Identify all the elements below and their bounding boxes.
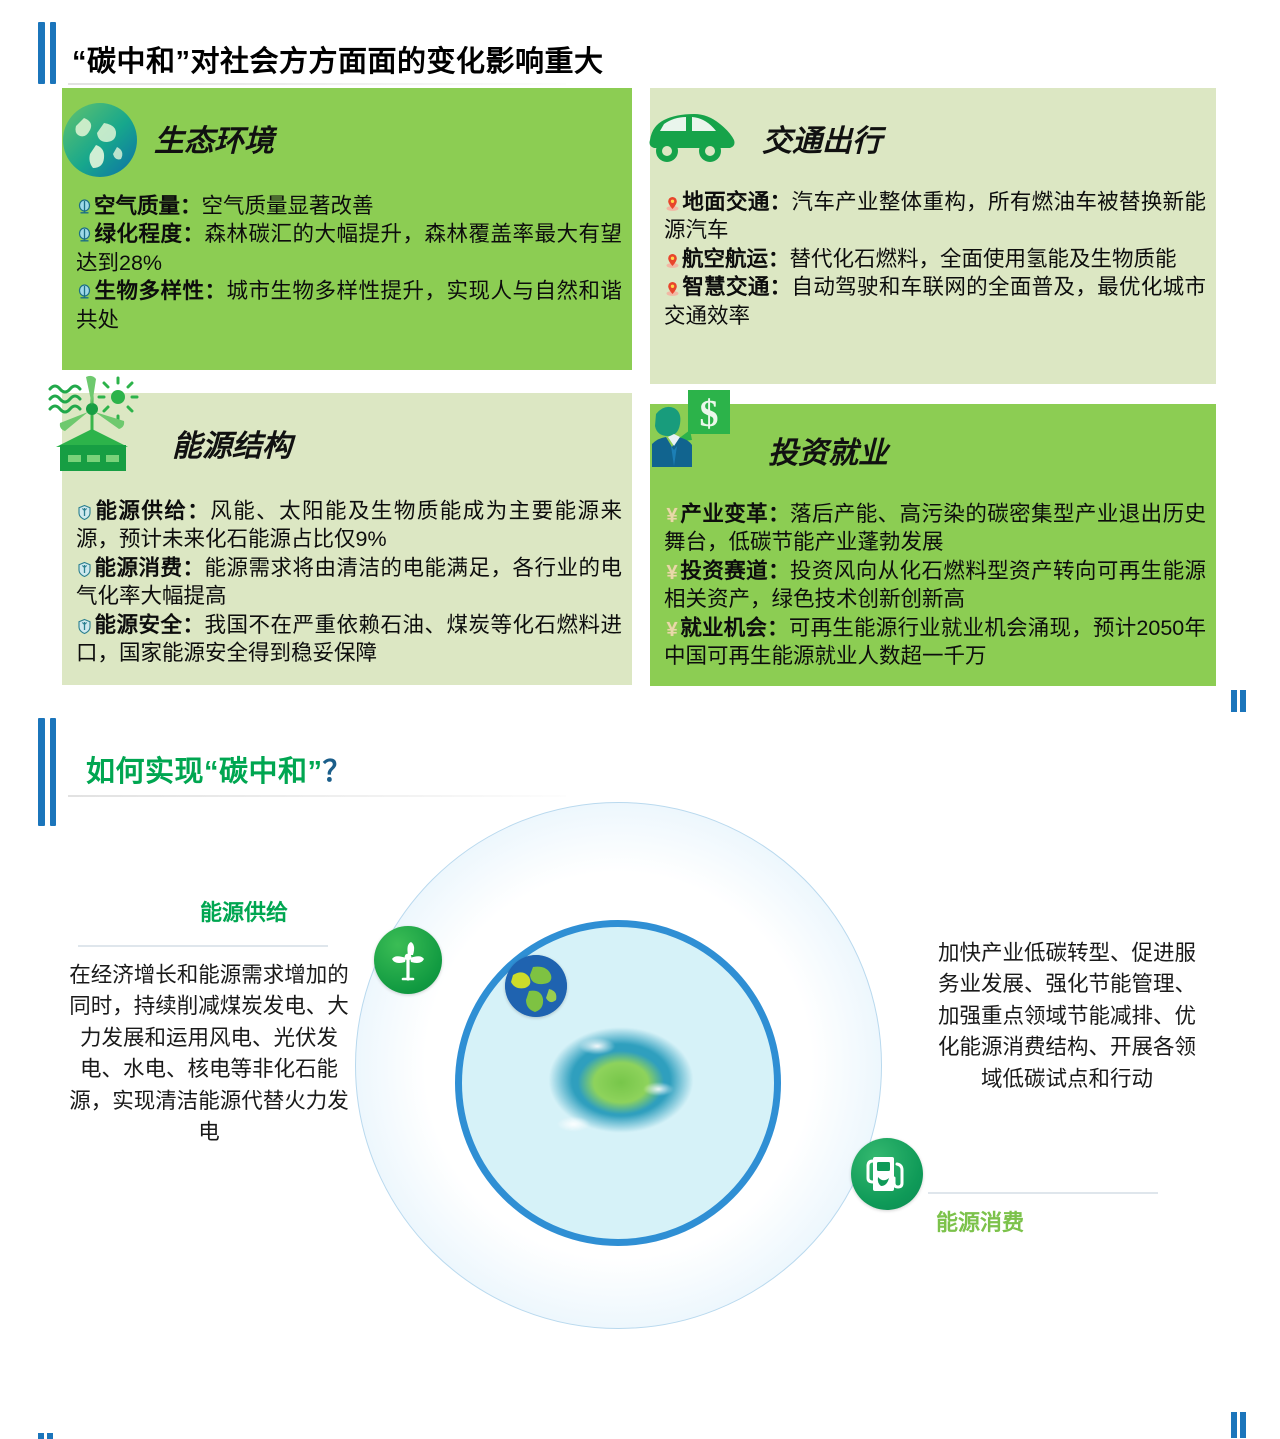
card-investment-jobs: $ 投资就业 ¥产业变革：落后产能、高污染的碳密集型产业退出历史舞台，低碳节能产… <box>650 404 1216 686</box>
label-energy-supply: 能源供给 <box>200 895 288 927</box>
carbon-neutral-diagram: 能源供给 在经济增长和能源需求增加的同时，持续削减煤炭发电、大力发展和运用风电、… <box>0 800 1280 1360</box>
heading-divider <box>68 83 566 85</box>
list-item: ¥投资赛道：投资风向从化石燃料型资产转向可再生能源相关资产，绿色技术创新创新高 <box>664 557 1206 614</box>
left-label-divider <box>78 945 328 947</box>
edge-marker-right-bottom <box>1231 1412 1246 1438</box>
item-label: 产业变革： <box>680 502 790 526</box>
list-item: 能源安全：我国不在严重依赖石油、煤炭等化石燃料进口，国家能源安全得到稳妥保障 <box>76 611 622 668</box>
shield-icon <box>76 561 93 578</box>
section2-title-text: 如何实现“碳中和” <box>86 756 323 788</box>
map-pin-icon <box>664 280 681 297</box>
edge-marker-left-bottom <box>38 1433 53 1439</box>
tree-icon <box>76 227 93 244</box>
list-item: 地面交通：汽车产业整体重构，所有燃油车被替换新能源汽车 <box>664 188 1206 245</box>
fuel-station-icon <box>851 1138 923 1210</box>
card-title: 投资就业 <box>768 428 888 472</box>
label-energy-consumption: 能源消费 <box>936 1205 1024 1237</box>
item-label: 地面交通： <box>682 190 792 214</box>
marker-bar <box>38 1433 44 1439</box>
wind-turbine-leaf-icon <box>374 926 442 994</box>
card-transport: 交通出行 地面交通：汽车产业整体重构，所有燃油车被替换新能源汽车 航空航运：替代… <box>650 88 1216 384</box>
tree-icon <box>76 284 93 301</box>
list-item: 航空航运：替代化石燃料，全面使用氢能及生物质能 <box>664 245 1206 273</box>
yen-icon: ¥ <box>664 620 680 640</box>
page-title: “碳中和”对社会方方面面的变化影响重大 <box>72 38 604 80</box>
section2-title-question: ？ <box>323 756 353 788</box>
item-text: 空气质量显著改善 <box>202 194 374 218</box>
map-pin-icon <box>664 195 681 212</box>
list-item: ¥产业变革：落后产能、高污染的碳密集型产业退出历史舞台，低碳节能产业蓬勃发展 <box>664 500 1206 557</box>
globe-icon <box>54 93 146 185</box>
yen-icon: ¥ <box>664 563 680 583</box>
wind-turbine-icon <box>34 375 154 483</box>
china-map-icon <box>536 1015 706 1145</box>
item-text: 替代化石燃料，全面使用氢能及生物质能 <box>790 247 1177 271</box>
card-body: 地面交通：汽车产业整体重构，所有燃油车被替换新能源汽车 航空航运：替代化石燃料，… <box>664 188 1206 330</box>
marker-bar <box>47 1433 53 1439</box>
heading-accent-bars <box>38 22 56 84</box>
card-title: 生态环境 <box>154 116 274 160</box>
list-item: 能源供给：风能、太阳能及生物质能成为主要能源来源，预计未来化石能源占比仅9% <box>76 497 622 554</box>
item-label: 就业机会： <box>680 616 789 640</box>
section1-heading: “碳中和”对社会方方面面的变化影响重大 <box>38 22 604 84</box>
card-title: 交通出行 <box>762 116 882 160</box>
shield-icon <box>76 618 93 635</box>
svg-text:$: $ <box>700 393 719 435</box>
car-icon <box>640 96 740 170</box>
marker-bar <box>1240 1412 1246 1438</box>
card-ecology: 生态环境 空气质量：空气质量显著改善 绿化程度：森林碳汇的大幅提升，森林覆盖率最… <box>62 88 632 370</box>
marker-bar <box>1240 690 1246 712</box>
section2-divider <box>68 795 566 797</box>
item-label: 能源消费： <box>94 556 205 580</box>
card-body: ¥产业变革：落后产能、高污染的碳密集型产业退出历史舞台，低碳节能产业蓬勃发展 ¥… <box>664 500 1206 670</box>
shield-icon <box>76 504 93 521</box>
card-energy-structure: 能源结构 能源供给：风能、太阳能及生物质能成为主要能源来源，预计未来化石能源占比… <box>62 393 632 685</box>
marker-bar <box>1231 1412 1237 1438</box>
tree-icon <box>76 199 93 216</box>
item-label: 投资赛道： <box>680 559 790 583</box>
list-item: 空气质量：空气质量显著改善 <box>76 192 622 220</box>
yen-icon: ¥ <box>664 506 680 526</box>
accent-bar <box>50 22 56 84</box>
item-label: 绿化程度： <box>94 222 205 246</box>
item-label: 生物多样性： <box>94 279 227 303</box>
item-label: 智慧交通： <box>682 275 792 299</box>
item-label: 空气质量： <box>94 194 202 218</box>
list-item: 绿化程度：森林碳汇的大幅提升，森林覆盖率最大有望达到28% <box>76 220 622 277</box>
edge-marker-right-top <box>1231 690 1246 712</box>
globe-icon <box>505 955 567 1017</box>
accent-bar <box>38 22 45 84</box>
right-label-divider <box>928 1192 1158 1194</box>
list-item: 智慧交通：自动驾驶和车联网的全面普及，最优化城市交通效率 <box>664 273 1206 330</box>
list-item: 生物多样性：城市生物多样性提升，实现人与自然和谐共处 <box>76 277 622 334</box>
list-item: ¥就业机会：可再生能源行业就业机会涌现，预计2050年中国可再生能源就业人数超一… <box>664 614 1206 671</box>
section2-title: 如何实现“碳中和”？ <box>86 748 352 790</box>
item-label: 能源安全： <box>94 613 205 637</box>
text-energy-consumption: 加快产业低碳转型、促进服务业发展、强化节能管理、加强重点领域节能减排、优化能源消… <box>928 938 1206 1095</box>
text-energy-supply: 在经济增长和能源需求增加的同时，持续削减煤炭发电、大力发展和运用风电、光伏发电、… <box>68 960 350 1148</box>
map-pin-icon <box>664 252 681 269</box>
card-title: 能源结构 <box>172 421 292 465</box>
card-body: 空气质量：空气质量显著改善 绿化程度：森林碳汇的大幅提升，森林覆盖率最大有望达到… <box>76 192 622 334</box>
item-label: 能源供给： <box>94 499 210 523</box>
list-item: 能源消费：能源需求将由清洁的电能满足，各行业的电气化率大幅提高 <box>76 554 622 611</box>
marker-bar <box>1231 690 1237 712</box>
businessman-dollar-icon: $ <box>638 390 746 486</box>
card-body: 能源供给：风能、太阳能及生物质能成为主要能源来源，预计未来化石能源占比仅9% 能… <box>76 497 622 667</box>
item-label: 航空航运： <box>682 247 790 271</box>
